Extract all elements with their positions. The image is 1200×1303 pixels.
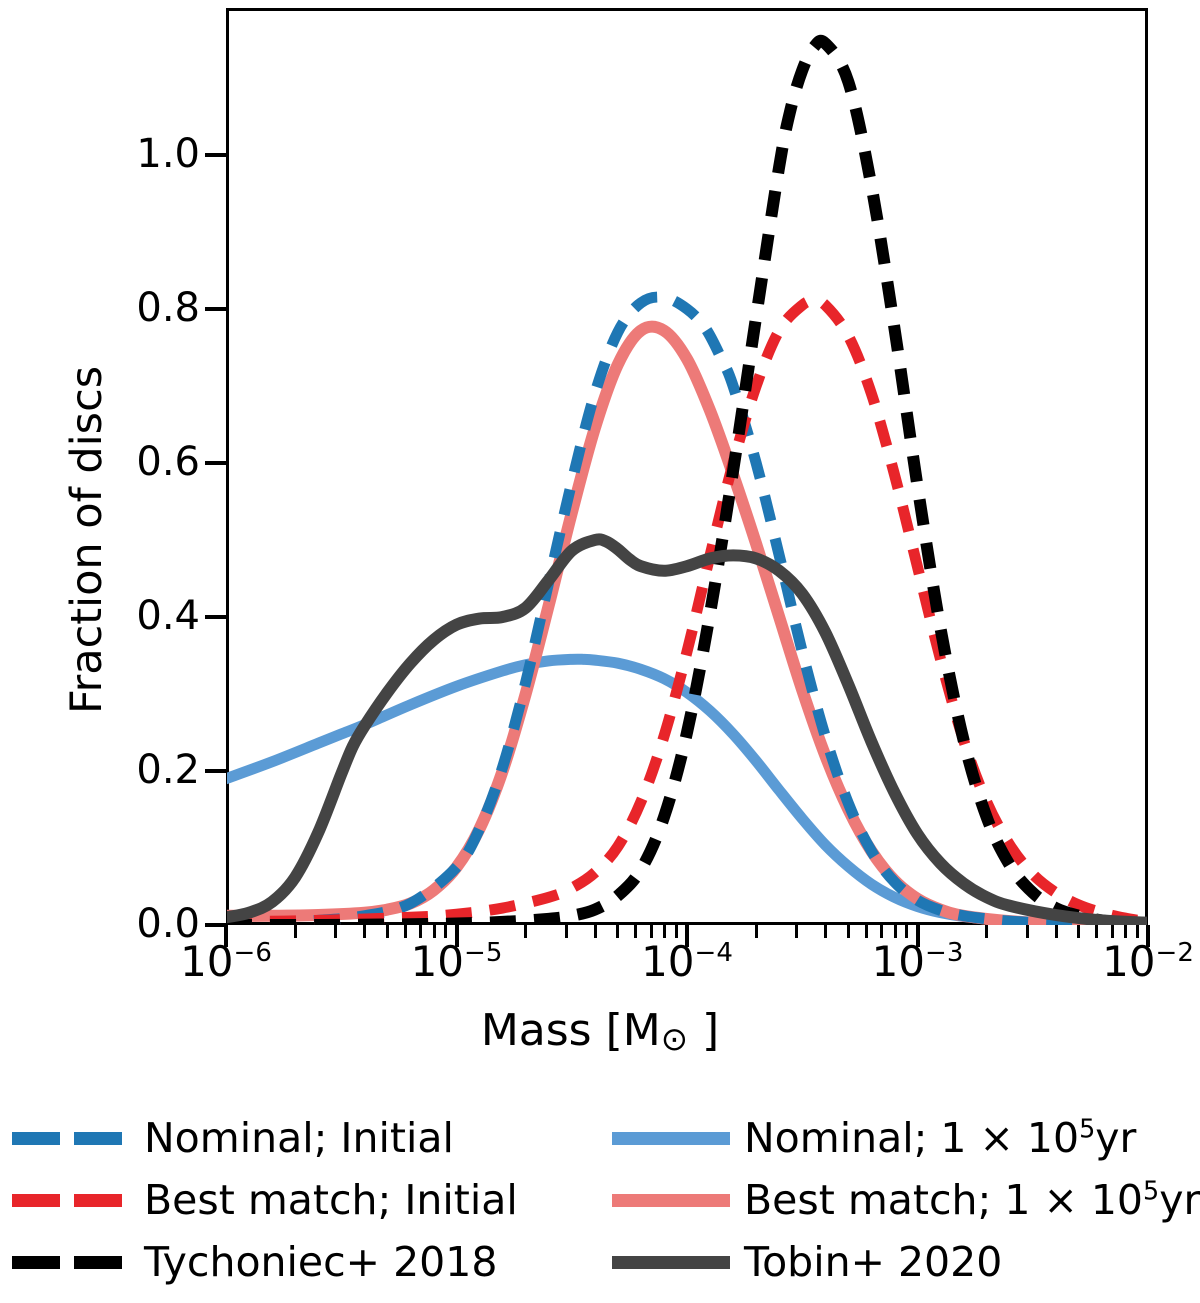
x-tick-minor-mark — [675, 925, 678, 938]
x-tick-minor-mark — [880, 925, 883, 938]
x-tick-minor-mark — [634, 925, 637, 938]
x-tick-minor-mark — [444, 925, 447, 938]
x-tick-minor-mark — [363, 925, 366, 938]
legend-label: Nominal; 1 × 105yr — [744, 1114, 1136, 1162]
y-tick-mark — [205, 615, 226, 619]
x-tick-minor-mark — [985, 925, 988, 938]
legend-label: Nominal; Initial — [144, 1114, 454, 1162]
x-tick-minor-mark — [334, 925, 337, 938]
x-tick-minor-mark — [419, 925, 422, 938]
legend-item[interactable]: Nominal; Initial — [12, 1108, 454, 1168]
x-tick-major-mark — [455, 925, 459, 947]
y-tick-mark — [205, 307, 226, 311]
x-tick-minor-mark — [433, 925, 436, 938]
y-tick-label: 0.2 — [0, 750, 200, 790]
x-tick-minor-mark — [294, 925, 297, 938]
x-tick-minor-mark — [894, 925, 897, 938]
y-tick-label: 0.4 — [0, 596, 200, 636]
x-axis-label: Mass [M⊙ ] — [0, 1005, 1200, 1058]
x-tick-minor-mark — [795, 925, 798, 938]
legend-item[interactable]: Nominal; 1 × 105yr — [612, 1108, 1136, 1168]
legend-item[interactable]: Best match; 1 × 105yr — [612, 1170, 1200, 1230]
x-axis-label-text: Mass [M — [481, 1005, 661, 1056]
x-tick-minor-mark — [1077, 925, 1080, 938]
x-axis-label-bracket: ] — [688, 1005, 719, 1056]
legend-item[interactable]: Best match; Initial — [12, 1170, 518, 1230]
y-tick-label: 1.0 — [0, 134, 200, 174]
x-tick-minor-mark — [565, 925, 568, 938]
legend-label: Tobin+ 2020 — [744, 1238, 1002, 1286]
x-tick-major-mark — [916, 925, 920, 947]
x-tick-minor-mark — [616, 925, 619, 938]
x-tick-label: 10−2 — [1058, 938, 1200, 986]
x-tick-major-mark — [685, 925, 689, 947]
x-tick-minor-mark — [650, 925, 653, 938]
y-tick-mark — [205, 153, 226, 157]
legend-label: Best match; Initial — [144, 1176, 518, 1224]
legend-label: Best match; 1 × 105yr — [744, 1176, 1200, 1224]
y-tick-label: 0.6 — [0, 442, 200, 482]
legend-swatch-icon — [612, 1256, 730, 1269]
x-tick-minor-mark — [1026, 925, 1029, 938]
x-tick-minor-mark — [404, 925, 407, 938]
legend-swatch-icon — [12, 1132, 130, 1145]
legend: Nominal; InitialBest match; InitialTycho… — [0, 1100, 1200, 1300]
x-tick-minor-mark — [594, 925, 597, 938]
x-tick-minor-mark — [1136, 925, 1139, 938]
x-tick-minor-mark — [755, 925, 758, 938]
y-tick-mark — [205, 461, 226, 465]
y-axis-label: Fraction of discs — [62, 366, 112, 714]
solar-mass-icon: ⊙ — [661, 1020, 688, 1058]
plot-frame — [226, 8, 1148, 925]
figure-root: Fraction of discs 0.00.20.40.60.81.0 10−… — [0, 0, 1200, 1303]
legend-label: Tychoniec+ 2018 — [144, 1238, 497, 1286]
legend-swatch-icon — [612, 1194, 730, 1207]
y-tick-mark — [205, 769, 226, 773]
legend-item[interactable]: Tychoniec+ 2018 — [12, 1232, 497, 1292]
x-tick-minor-mark — [386, 925, 389, 938]
y-tick-mark — [205, 923, 226, 927]
y-tick-label: 0.8 — [0, 288, 200, 328]
legend-swatch-icon — [12, 1194, 130, 1207]
x-tick-minor-mark — [1124, 925, 1127, 938]
x-tick-minor-mark — [1055, 925, 1058, 938]
x-tick-minor-mark — [663, 925, 666, 938]
x-tick-minor-mark — [865, 925, 868, 938]
legend-item[interactable]: Tobin+ 2020 — [612, 1232, 1002, 1292]
x-tick-minor-mark — [524, 925, 527, 938]
x-tick-minor-mark — [905, 925, 908, 938]
x-tick-major-mark — [224, 925, 228, 947]
x-tick-minor-mark — [847, 925, 850, 938]
legend-swatch-icon — [612, 1132, 730, 1145]
legend-swatch-icon — [12, 1256, 130, 1269]
x-tick-minor-mark — [1095, 925, 1098, 938]
x-tick-minor-mark — [1111, 925, 1114, 938]
x-tick-major-mark — [1146, 925, 1150, 947]
x-tick-minor-mark — [824, 925, 827, 938]
